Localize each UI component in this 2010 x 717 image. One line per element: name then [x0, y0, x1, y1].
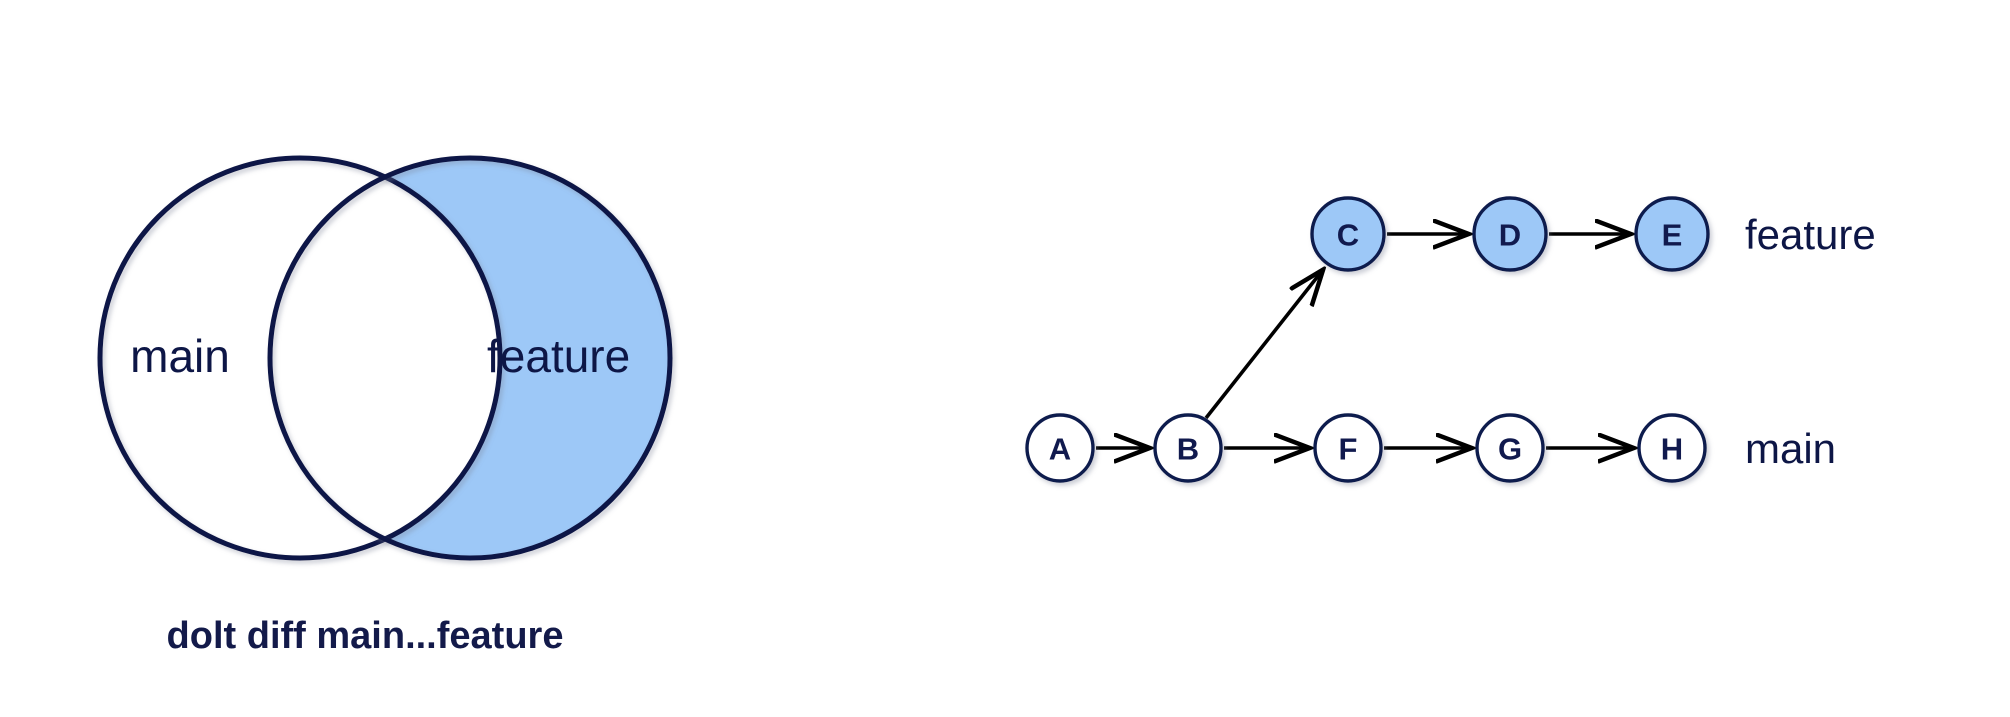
- venn-label-feature: feature: [487, 330, 630, 382]
- commit-node-g-label: G: [1498, 432, 1522, 467]
- commit-node-a[interactable]: A: [1027, 415, 1093, 481]
- commit-node-d[interactable]: D: [1474, 198, 1546, 270]
- commit-node-b-label: B: [1177, 432, 1199, 467]
- commit-node-e[interactable]: E: [1636, 198, 1708, 270]
- commit-node-b[interactable]: B: [1155, 415, 1221, 481]
- branch-label-main: main: [1745, 425, 1836, 472]
- commit-node-c[interactable]: C: [1312, 198, 1384, 270]
- commit-node-g[interactable]: G: [1477, 415, 1543, 481]
- venn-label-main: main: [130, 330, 230, 382]
- commit-graph: C D E A B F: [1027, 198, 1876, 481]
- figure-root: main feature dolt diff main...feature C: [0, 0, 2010, 717]
- branch-label-feature: feature: [1745, 211, 1876, 258]
- commit-node-c-label: C: [1337, 218, 1359, 253]
- commit-node-h[interactable]: H: [1639, 415, 1705, 481]
- commit-node-f-label: F: [1339, 432, 1358, 467]
- diagram-canvas: main feature dolt diff main...feature C: [0, 0, 2010, 717]
- commit-node-a-label: A: [1049, 432, 1071, 467]
- commit-node-d-label: D: [1499, 218, 1521, 253]
- venn-diagram: main feature dolt diff main...feature: [100, 158, 670, 657]
- commit-node-h-label: H: [1661, 432, 1683, 467]
- edge-b-to-c: [1206, 271, 1322, 418]
- venn-caption: dolt diff main...feature: [167, 615, 564, 657]
- commit-node-f[interactable]: F: [1315, 415, 1381, 481]
- commit-node-e-label: E: [1662, 218, 1683, 253]
